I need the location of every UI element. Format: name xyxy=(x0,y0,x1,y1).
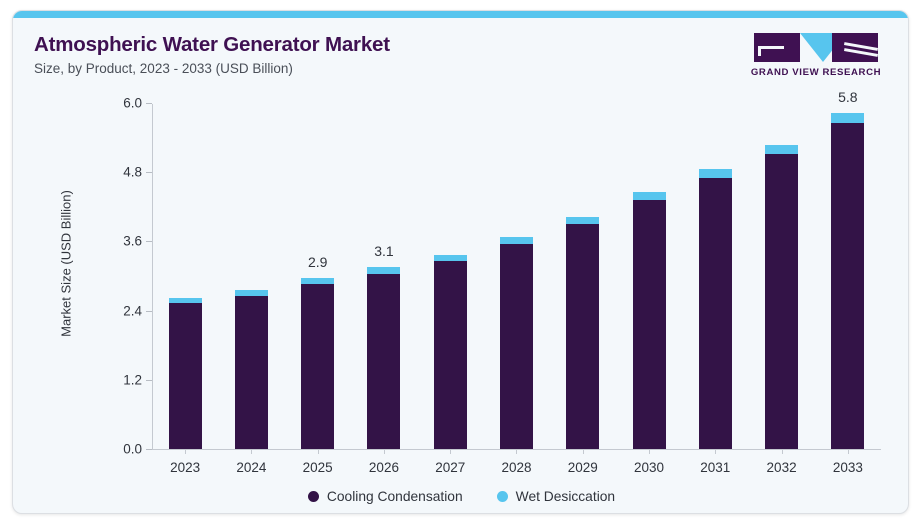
y-axis-tick-mark xyxy=(146,311,152,312)
bar-segment[interactable] xyxy=(169,303,202,449)
x-axis-tick-label: 2024 xyxy=(219,460,283,475)
legend-label: Cooling Condensation xyxy=(327,489,463,504)
legend-color-dot-icon xyxy=(308,491,319,502)
x-axis-tick-label: 2027 xyxy=(418,460,482,475)
y-axis-tick-label: 4.8 xyxy=(98,165,142,180)
y-axis-tick-mark xyxy=(146,380,152,381)
x-axis-tick-label: 2028 xyxy=(485,460,549,475)
bar-segment[interactable] xyxy=(765,154,798,449)
x-axis-tick-mark xyxy=(185,449,186,454)
x-axis-tick-label: 2030 xyxy=(617,460,681,475)
bar-segment[interactable] xyxy=(434,261,467,449)
x-axis-tick-mark xyxy=(384,449,385,454)
x-axis-tick-label: 2025 xyxy=(286,460,350,475)
x-axis-tick-mark xyxy=(450,449,451,454)
bar-group[interactable] xyxy=(169,298,202,449)
bar-group[interactable] xyxy=(566,217,599,449)
bar-segment[interactable] xyxy=(633,192,666,200)
bar-group[interactable] xyxy=(301,278,334,449)
y-axis-line xyxy=(152,104,153,449)
bar-group[interactable] xyxy=(434,255,467,449)
y-axis-title: Market Size (USD Billion) xyxy=(59,149,74,379)
bar-segment[interactable] xyxy=(566,224,599,449)
x-axis-tick-mark xyxy=(649,449,650,454)
bar-segment[interactable] xyxy=(831,113,864,123)
x-axis-tick-label: 2033 xyxy=(816,460,880,475)
legend-item-1[interactable]: Cooling Condensation xyxy=(308,489,463,504)
bar-chart-plot: Market Size (USD Billion) 0.01.22.43.64.… xyxy=(13,11,909,514)
bar-segment[interactable] xyxy=(500,244,533,449)
y-axis-tick-mark xyxy=(146,172,152,173)
bar-segment[interactable] xyxy=(765,145,798,154)
bar-segment[interactable] xyxy=(699,169,732,178)
legend-item-2[interactable]: Wet Desiccation xyxy=(497,489,615,504)
bar-segment[interactable] xyxy=(301,284,334,449)
bar-value-label: 2.9 xyxy=(286,254,350,270)
chart-card: Atmospheric Water Generator Market Size,… xyxy=(12,10,909,514)
x-axis-tick-mark xyxy=(848,449,849,454)
y-axis-tick-mark xyxy=(146,449,152,450)
bar-segment[interactable] xyxy=(367,274,400,449)
bar-segment[interactable] xyxy=(235,296,268,449)
bar-group[interactable] xyxy=(367,267,400,449)
legend-label: Wet Desiccation xyxy=(516,489,615,504)
bar-segment[interactable] xyxy=(699,178,732,449)
x-axis-tick-label: 2026 xyxy=(352,460,416,475)
x-axis-tick-mark xyxy=(516,449,517,454)
x-axis-tick-label: 2029 xyxy=(551,460,615,475)
bar-segment[interactable] xyxy=(566,217,599,224)
x-axis-tick-mark xyxy=(251,449,252,454)
bar-value-label: 5.8 xyxy=(816,89,880,105)
y-axis-tick-label: 0.0 xyxy=(98,442,142,457)
bar-group[interactable] xyxy=(235,290,268,449)
bar-group[interactable] xyxy=(765,145,798,449)
y-axis-tick-label: 3.6 xyxy=(98,234,142,249)
bar-value-label: 3.1 xyxy=(352,243,416,259)
bar-group[interactable] xyxy=(831,113,864,449)
y-axis-tick-label: 2.4 xyxy=(98,303,142,318)
x-axis-tick-label: 2032 xyxy=(750,460,814,475)
y-axis-tick-label: 1.2 xyxy=(98,372,142,387)
bar-segment[interactable] xyxy=(633,200,666,449)
legend-color-dot-icon xyxy=(497,491,508,502)
x-axis-tick-label: 2023 xyxy=(153,460,217,475)
x-axis-tick-mark xyxy=(782,449,783,454)
x-axis-tick-mark xyxy=(583,449,584,454)
chart-legend: Cooling CondensationWet Desiccation xyxy=(13,489,909,504)
bar-group[interactable] xyxy=(500,237,533,449)
x-axis-tick-label: 2031 xyxy=(683,460,747,475)
y-axis-tick-label: 6.0 xyxy=(98,96,142,111)
bar-segment[interactable] xyxy=(500,237,533,244)
x-axis-tick-mark xyxy=(318,449,319,454)
y-axis-tick-mark xyxy=(146,103,152,104)
bar-group[interactable] xyxy=(699,169,732,449)
x-axis-tick-mark xyxy=(715,449,716,454)
y-axis-tick-mark xyxy=(146,241,152,242)
bar-group[interactable] xyxy=(633,192,666,449)
bar-segment[interactable] xyxy=(831,123,864,449)
